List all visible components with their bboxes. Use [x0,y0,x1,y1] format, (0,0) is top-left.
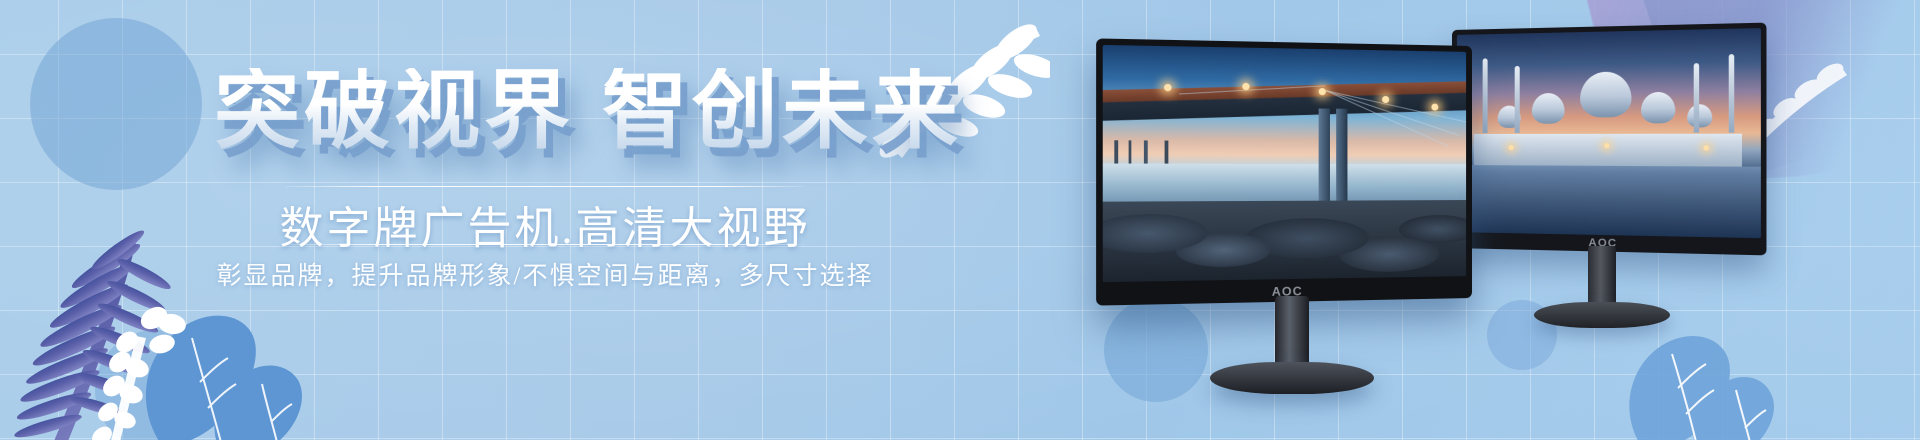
product-monitors: AOC [1140,0,1920,440]
bridge-pylon-right [1336,109,1347,205]
monitor-back-screen [1457,28,1761,238]
minaret-left [1483,58,1488,133]
shoreline-rocks [1103,200,1466,282]
minaret-left-inner [1515,65,1520,133]
minaret-right [1729,54,1735,133]
monitor-front-stand-base [1210,362,1374,394]
monitor-front-stand-neck [1275,296,1309,370]
street-lamp-5 [1432,103,1439,110]
bridge-photo [1103,45,1466,282]
street-lamp-2 [1242,82,1249,89]
monitor-front-bezel: AOC [1096,38,1472,305]
promo-banner: 突破视界 智创未来 数字牌广告机.高清大视野 彰显品牌，提升品牌形象/不惧空间与… [0,0,1920,440]
monitor-back-stand-neck [1588,246,1616,308]
water-reflection [1457,165,1761,238]
mosque-photo [1457,28,1761,238]
skyline-silhouette [1110,140,1238,164]
divider-bottom [285,244,805,245]
divider-top [285,186,805,187]
subtitle: 数字牌广告机.高清大视野 [0,192,1090,256]
minaret-right-inner [1694,63,1699,134]
monitor-front: AOC [1112,46,1472,298]
monitor-back-stand-base [1534,302,1670,328]
bridge-pylon-left [1318,109,1329,205]
page-title: 突破视界 智创未来 [214,68,962,154]
street-lamp-1 [1164,84,1172,91]
monitor-front-screen [1103,45,1466,282]
dome-left [1532,93,1565,123]
dome-right [1641,92,1675,123]
tagline: 彰显品牌，提升品牌形象/不惧空间与距离，多尺寸选择 [0,256,1090,292]
street-lamp-3 [1318,88,1325,95]
monitor-back: AOC [1452,30,1752,248]
mosque-body [1474,133,1741,166]
dome-far-right [1688,104,1713,127]
monitor-back-bezel: AOC [1452,23,1766,256]
dome-main [1580,72,1632,117]
